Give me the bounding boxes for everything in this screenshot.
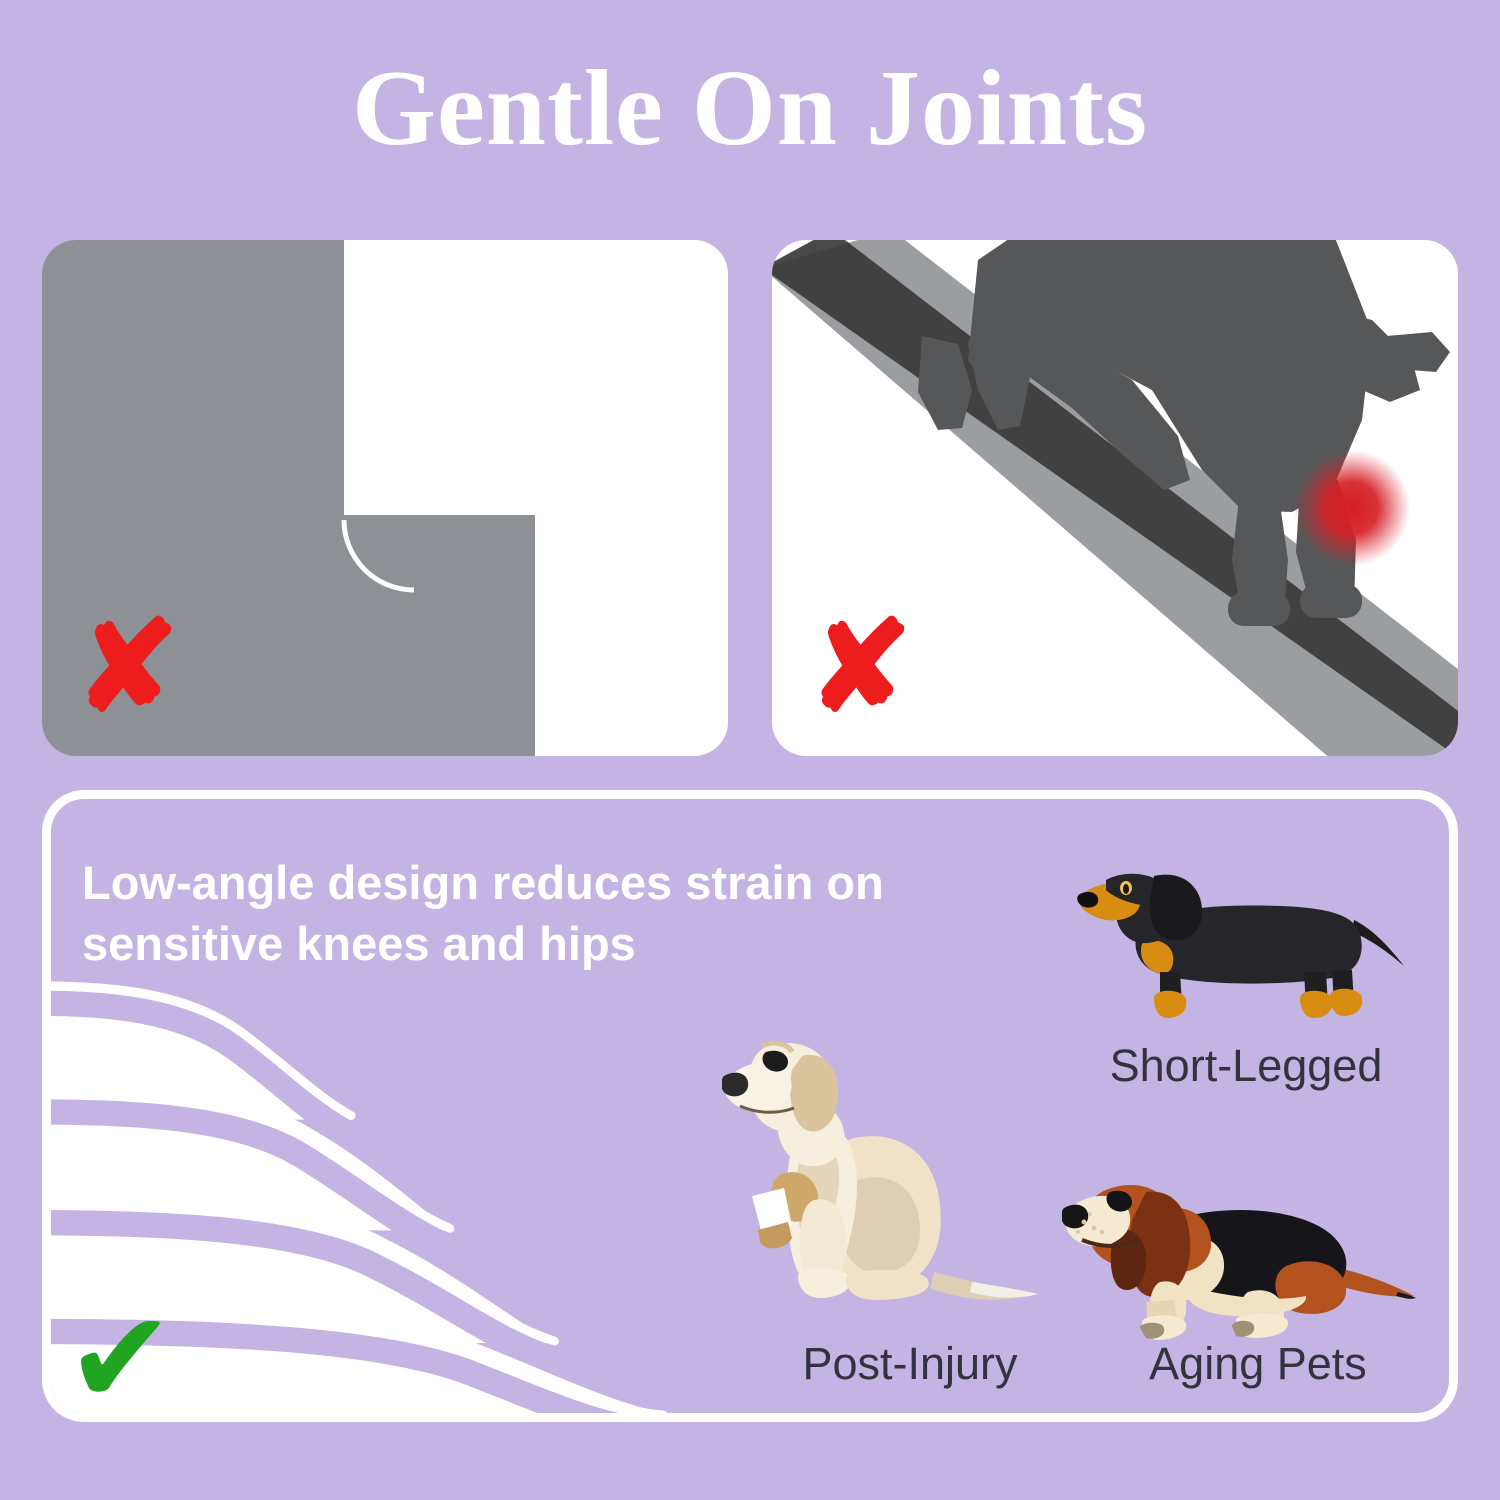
infographic-page: Gentle On Joints 90° ✘ bbox=[0, 0, 1500, 1500]
page-title: Gentle On Joints bbox=[0, 52, 1500, 165]
labrador-shape bbox=[722, 1043, 1038, 1300]
dog-label-post-injury: Post-Injury bbox=[760, 1338, 1060, 1390]
red-x-icon-ramp: ✘ bbox=[808, 605, 913, 730]
dog-label-aging-pets: Aging Pets bbox=[1108, 1338, 1408, 1390]
low-angle-headline: Low-angle design reduces strain on sensi… bbox=[82, 852, 942, 974]
dog-illustration-basset bbox=[1062, 1170, 1422, 1342]
dog-label-short-legged: Short-Legged bbox=[1076, 1040, 1416, 1092]
angle-90-label: 90° bbox=[372, 441, 463, 510]
dachshund-shape bbox=[1077, 874, 1404, 1018]
red-x-icon-stairs: ✘ bbox=[75, 605, 180, 730]
basset-shape bbox=[1062, 1185, 1416, 1340]
pain-indicator-icon bbox=[1294, 450, 1410, 566]
green-check-icon: ✔ bbox=[66, 1293, 175, 1423]
dog-illustration-labrador bbox=[722, 1020, 1052, 1320]
dog-illustration-dachshund bbox=[1068, 848, 1420, 1048]
